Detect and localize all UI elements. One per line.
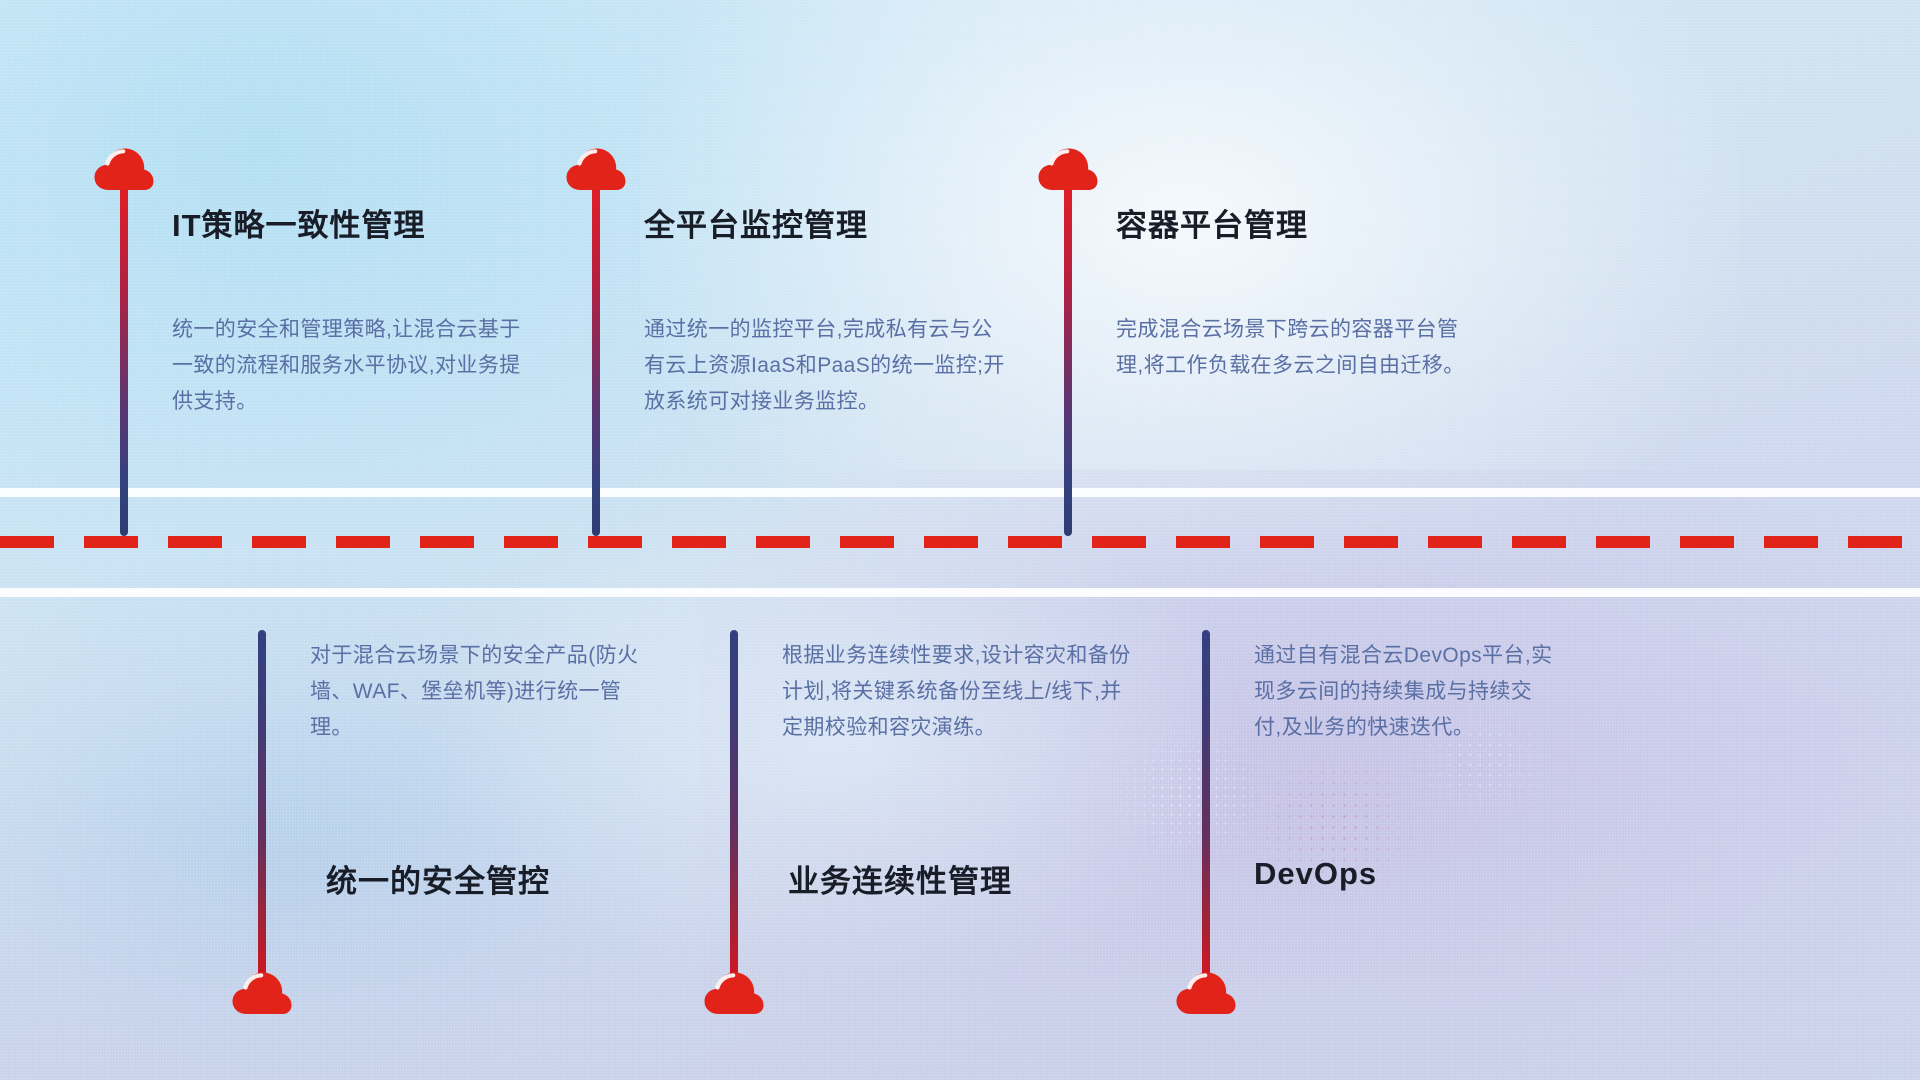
connector-line	[730, 630, 738, 982]
connector-line	[1064, 184, 1072, 536]
connector-line	[592, 184, 600, 536]
card-title: DevOps	[1254, 856, 1377, 892]
divider-rule-bottom	[0, 588, 1920, 597]
card-body: 根据业务连续性要求,设计容灾和备份计划,将关键系统备份至线上/线下,并定期校验和…	[782, 638, 1134, 746]
connector-line	[1202, 630, 1210, 982]
dashed-divider-line	[0, 536, 1920, 548]
card-title: 容器平台管理	[1116, 200, 1308, 245]
divider-band	[0, 488, 1920, 598]
card-body: 通过统一的监控平台,完成私有云与公有云上资源IaaS和PaaS的统一监控;开放系…	[644, 312, 1006, 420]
cloud-icon	[94, 146, 154, 192]
connector-line	[258, 630, 266, 982]
card-title: 业务连续性管理	[788, 856, 1012, 901]
card-title: 全平台监控管理	[644, 200, 868, 245]
card-body: 对于混合云场景下的安全产品(防火墙、WAF、堡垒机等)进行统一管理。	[310, 638, 662, 746]
cloud-icon	[232, 970, 292, 1016]
card-body: 完成混合云场景下跨云的容器平台管理,将工作负载在多云之间自由迁移。	[1116, 312, 1478, 384]
divider-rule-top	[0, 488, 1920, 497]
card-body: 统一的安全和管理策略,让混合云基于一致的流程和服务水平协议,对业务提供支持。	[172, 312, 524, 420]
cloud-icon	[1038, 146, 1098, 192]
card-title: IT策略一致性管理	[172, 200, 426, 245]
cloud-icon	[704, 970, 764, 1016]
cloud-icon	[566, 146, 626, 192]
card-title: 统一的安全管控	[326, 856, 550, 901]
connector-line	[120, 184, 128, 536]
cloud-icon	[1176, 970, 1236, 1016]
card-body: 通过自有混合云DevOps平台,实现多云间的持续集成与持续交付,及业务的快速迭代…	[1254, 638, 1554, 746]
